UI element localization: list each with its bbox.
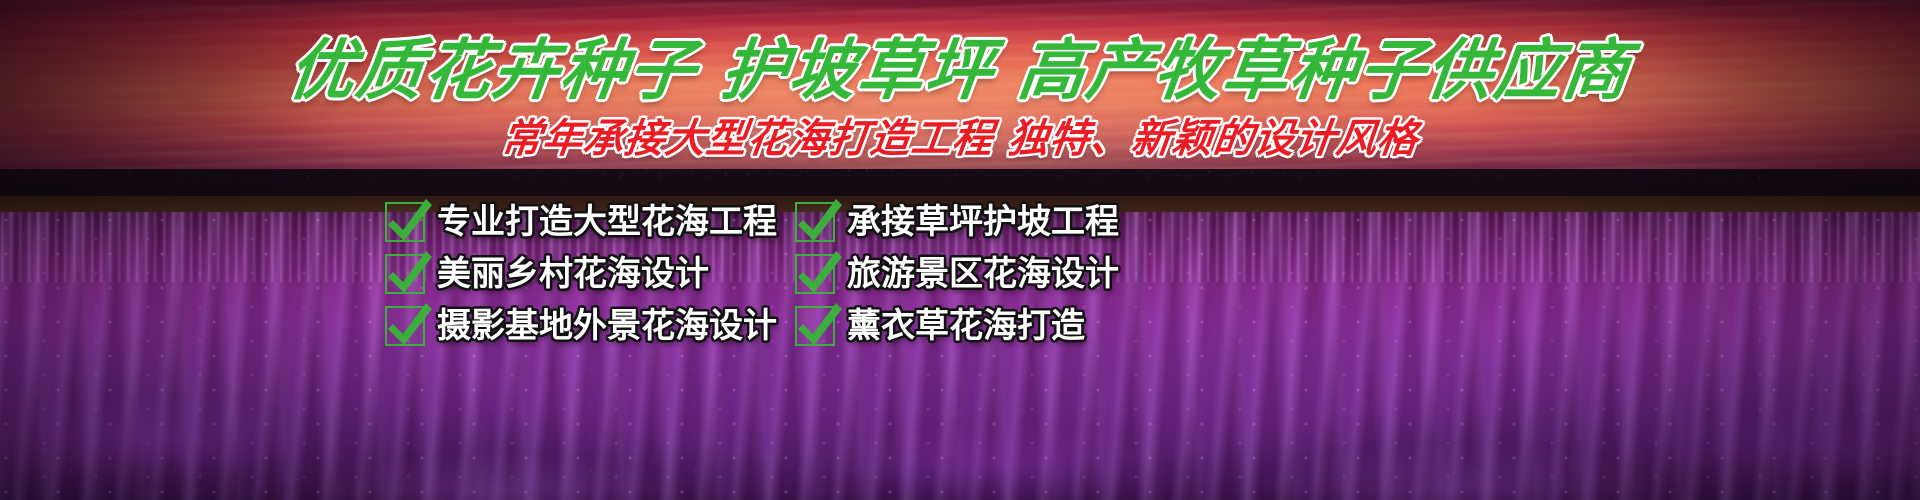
check-square-icon [795,254,835,294]
checklist-label-2: 承接草坪护坡工程 [847,202,1119,242]
banner-subheadline: 常年承接大型花海打造工程 独特、新颖的设计风格 [0,116,1920,162]
checklist-label-6: 薰衣草花海打造 [847,306,1085,346]
checklist-item-2: 承接草坪护坡工程 [795,196,1185,248]
checklist-item-1: 专业打造大型花海工程 [385,196,795,248]
check-square-icon [795,202,835,242]
checklist-item-5: 摄影基地外景花海设计 [385,300,795,352]
checklist-item-6: 薰衣草花海打造 [795,300,1185,352]
checklist-item-4: 旅游景区花海设计 [795,248,1185,300]
checklist-label-1: 专业打造大型花海工程 [437,202,777,242]
check-square-icon [795,306,835,346]
check-square-icon [385,202,425,242]
check-square-icon [385,306,425,346]
banner-content: 优质花卉种子 护坡草坪 高产牧草种子供应商 常年承接大型花海打造工程 独特、新颖… [0,0,1920,500]
checklist-label-4: 旅游景区花海设计 [847,254,1119,294]
check-square-icon [385,254,425,294]
checklist-label-3: 美丽乡村花海设计 [437,254,709,294]
checklist-label-5: 摄影基地外景花海设计 [437,306,777,346]
promo-banner: 优质花卉种子 护坡草坪 高产牧草种子供应商 常年承接大型花海打造工程 独特、新颖… [0,0,1920,500]
checklist-item-3: 美丽乡村花海设计 [385,248,795,300]
banner-headline: 优质花卉种子 护坡草坪 高产牧草种子供应商 [0,34,1920,106]
feature-checklist: 专业打造大型花海工程 承接草坪护坡工程 美丽乡村花海设计 [385,196,1185,352]
